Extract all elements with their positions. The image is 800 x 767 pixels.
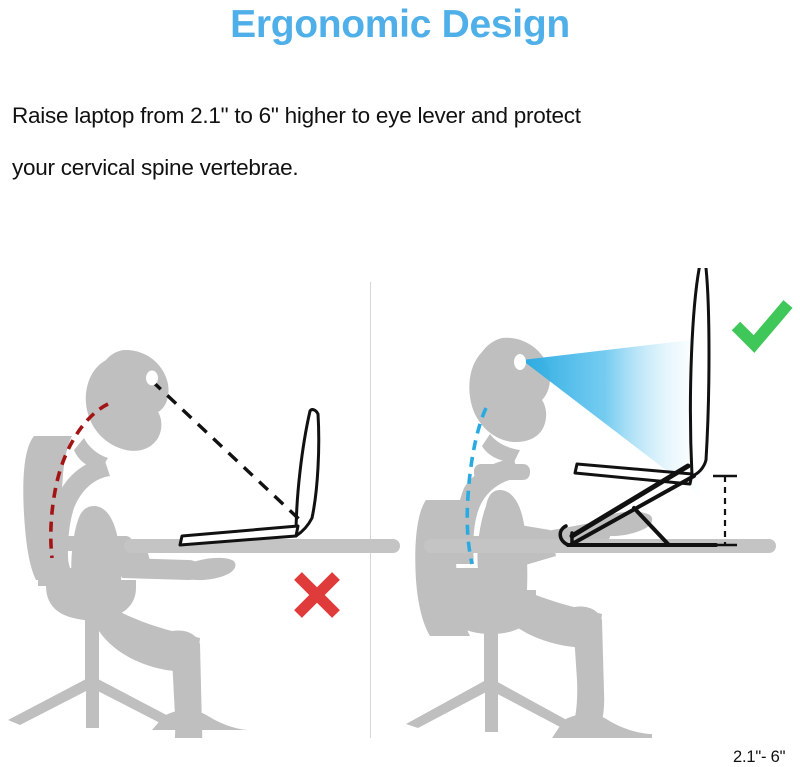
laptop-flat bbox=[180, 410, 319, 545]
laptop-screen bbox=[296, 410, 319, 536]
foot bbox=[152, 710, 250, 730]
check-icon bbox=[730, 298, 794, 354]
panel-correct-posture bbox=[400, 268, 800, 738]
stand-wedge-lower bbox=[572, 476, 694, 544]
cross-icon bbox=[288, 566, 346, 624]
dimension-line bbox=[713, 476, 737, 545]
eye bbox=[146, 371, 158, 386]
eye bbox=[514, 354, 526, 370]
foot bbox=[552, 714, 652, 738]
subtitle-line-2: your cervical spine vertebrae. bbox=[0, 142, 800, 194]
comparison-panels: 2.1"- 6" bbox=[0, 268, 800, 738]
chair-base bbox=[406, 680, 490, 728]
chair-base bbox=[8, 678, 92, 725]
page-title: Ergonomic Design bbox=[0, 0, 800, 48]
infographic-page: Ergonomic Design Raise laptop from 2.1" … bbox=[0, 0, 800, 738]
subtitle-line-1: Raise laptop from 2.1" to 6" higher to e… bbox=[0, 48, 800, 142]
chair-base-stem bbox=[485, 676, 498, 732]
header: Ergonomic Design Raise laptop from 2.1" … bbox=[0, 0, 800, 194]
dimension-label: 2.1"- 6" bbox=[733, 748, 785, 767]
laptop-screen bbox=[690, 268, 709, 476]
head-shape bbox=[86, 350, 169, 451]
chair-base-right bbox=[490, 680, 574, 728]
panel-incorrect-posture bbox=[0, 268, 400, 738]
desk-surface bbox=[124, 539, 400, 553]
incorrect-posture-illustration bbox=[0, 268, 400, 738]
chair-base-stem bbox=[86, 672, 99, 728]
sight-line-dashed bbox=[152, 381, 300, 520]
head-shape bbox=[469, 338, 550, 442]
